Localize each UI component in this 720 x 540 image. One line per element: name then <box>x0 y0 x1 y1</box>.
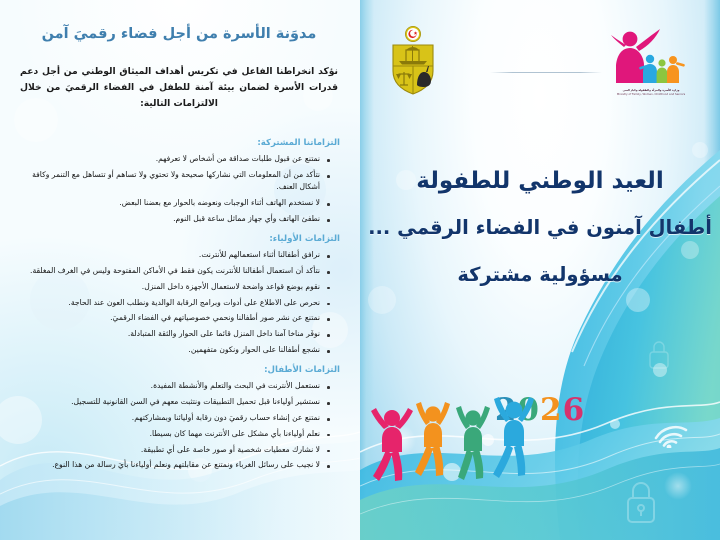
cover-subtitle-2: مسؤولية مشتركة <box>360 263 720 286</box>
cover-panel: وزارة الأسرة والمرأة والطفولة وكبار السن… <box>360 0 720 540</box>
page-title: العيد الوطني للطفولة <box>360 168 720 194</box>
list-item: نشجع أطفالنا على الحوار ونكون متفهمين. <box>16 344 332 356</box>
code-panel-intro: نؤكد انخراطنا الفاعل في تكريس أهداف المي… <box>12 64 346 112</box>
list-item: نمتنع عن إنشاء حساب رقميَ دون رقابة أولي… <box>16 412 332 424</box>
commitment-list: نمتنع عن قبول طلبات صداقة من أشخاص لا تع… <box>12 153 346 225</box>
section-heading: التزامات الأولياء: <box>12 234 346 244</box>
commitment-list: نرافق أطفالنا أثناء استعمالهم للأنترنت. … <box>12 249 346 356</box>
list-item: نمتنع عن نشر صور أطفالنا ونحمي خصوصياتهم… <box>16 312 332 324</box>
tunisia-coat-of-arms-icon <box>386 25 440 97</box>
code-of-conduct-panel: مدوَنة الأسرة من أجل فضاء رقميَ آمن نؤكد… <box>0 0 360 540</box>
logos-row: وزارة الأسرة والمرأة والطفولة وكبار السن… <box>360 22 720 100</box>
year-digit: 6 <box>563 392 586 428</box>
section-heading: التزاماتنا المشتركة: <box>12 138 346 148</box>
list-item: لا نشارك معطيات شخصية أو صور خاصة على أي… <box>16 444 332 456</box>
poster: مدوَنة الأسرة من أجل فضاء رقميَ آمن نؤكد… <box>0 0 720 540</box>
logo-divider-line <box>490 72 602 73</box>
cover-subtitle-1: أطفال آمنون في الفضاء الرقمي ... <box>360 216 720 239</box>
list-item: نستعمل الأنترنت في البحث والتعلم والأنشط… <box>16 380 332 392</box>
list-item: نوفَر مناخا آمنا داخل المنزل قائما على ا… <box>16 328 332 340</box>
list-item: نعلم أولياءنا بأي مشكل على الأنترنت مهما… <box>16 428 332 440</box>
list-item: نستشير أولياءنا قبل تحميل التطبيقات ونتث… <box>16 396 332 408</box>
ministry-caption-en: Ministry of Family, Women, Childhood and… <box>608 93 694 97</box>
child-figure-blue <box>493 397 534 478</box>
list-item: نتأكد من أن المعلومات التي نشاركها صحيحة… <box>16 169 332 194</box>
section-shared-commitments: التزاماتنا المشتركة: نمتنع عن قبول طلبات… <box>12 138 346 225</box>
list-item: نقوم بوضع قواعد واضحة لاستعمال الأجهزة د… <box>16 281 332 293</box>
ministry-logo: وزارة الأسرة والمرأة والطفولة وكبار السن… <box>608 25 694 97</box>
list-item: نرافق أطفالنا أثناء استعمالهم للأنترنت. <box>16 249 332 261</box>
ministry-family-icon <box>608 25 694 97</box>
section-heading: التزامات الأطفال: <box>12 365 346 375</box>
padlock-icon <box>620 476 662 528</box>
commitment-list: نستعمل الأنترنت في البحث والتعلم والأنشط… <box>12 380 346 471</box>
jumping-children-illustration <box>368 396 558 514</box>
section-parent-commitments: التزامات الأولياء: نرافق أطفالنا أثناء ا… <box>12 234 346 356</box>
code-panel-title: مدوَنة الأسرة من أجل فضاء رقميَ آمن <box>12 26 346 42</box>
child-figure-magenta <box>371 408 413 481</box>
cover-title-block: العيد الوطني للطفولة أطفال آمنون في الفض… <box>360 168 720 286</box>
child-figure-orange <box>415 402 450 476</box>
list-item: نتأكد أن استعمال أطفالنا للأنترنت يكون ف… <box>16 265 332 277</box>
list-item: نحرص على الاطلاع على أدوات وبرامج الرقاب… <box>16 297 332 309</box>
list-item: نطفئ الهاتف وأي جهاز مماثل ساعة قبل النو… <box>16 213 332 225</box>
child-figure-green <box>456 406 490 480</box>
list-item: لا نجيب على رسائل الغرباء ونمتنع عن مقاب… <box>16 459 332 471</box>
list-item: نمتنع عن قبول طلبات صداقة من أشخاص لا تع… <box>16 153 332 165</box>
ministry-logo-caption: وزارة الأسرة والمرأة والطفولة وكبار السن… <box>608 89 694 97</box>
section-child-commitments: التزامات الأطفال: نستعمل الأنترنت في الب… <box>12 365 346 471</box>
list-item: لا نستخدم الهاتف أثناء الوجبات ونعوضه با… <box>16 197 332 209</box>
